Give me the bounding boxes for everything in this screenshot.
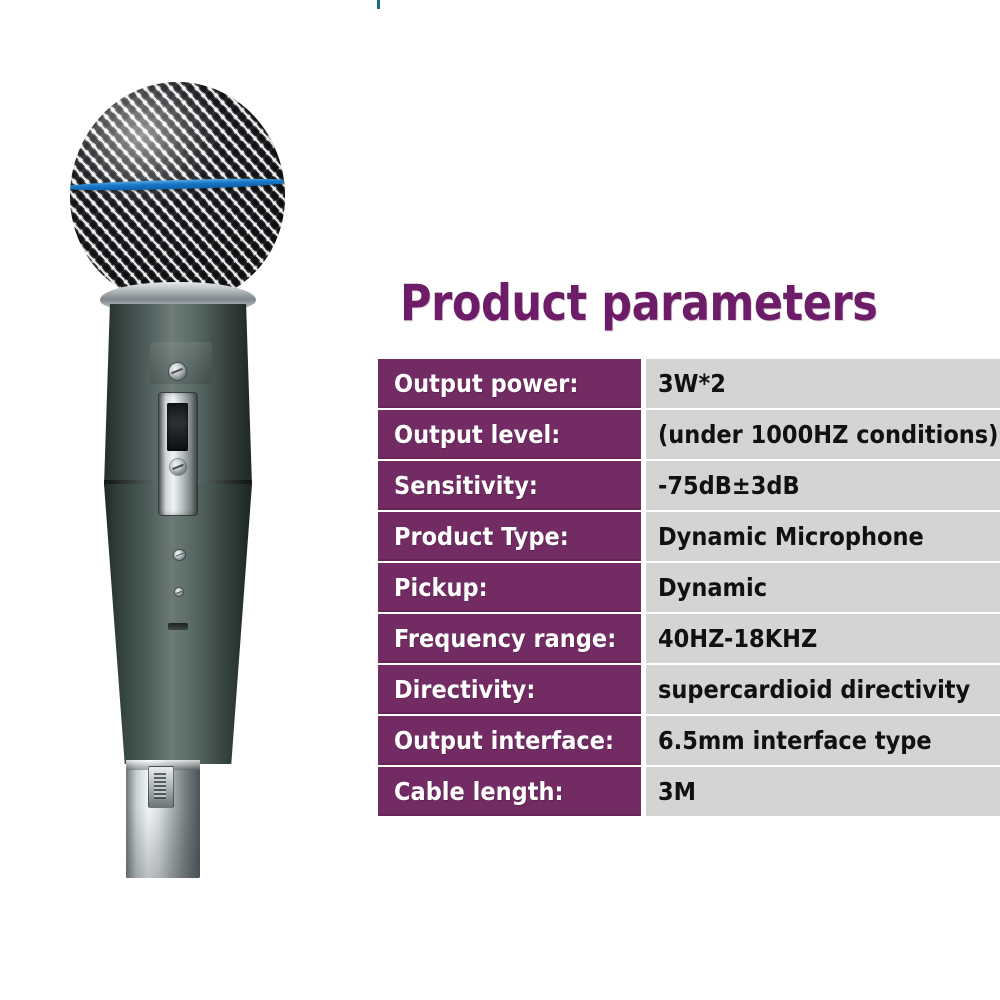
spec-value-cell: supercardioid directivity [641, 665, 1000, 714]
spec-label-text: Cable length: [394, 778, 563, 806]
spec-label-text: Output interface: [394, 727, 614, 755]
spec-label-cell: Output interface: [378, 716, 641, 765]
spec-value-cell: 3M [641, 767, 1000, 816]
table-row: Output level: (under 1000HZ conditions) [378, 410, 1000, 459]
microphone-screw-lower-1 [174, 550, 185, 560]
spec-value-text: -75dB±3dB [658, 472, 800, 500]
table-row: Output power: 3W*2 [378, 359, 1000, 408]
table-row: Pickup: Dynamic [378, 563, 1000, 612]
spec-table-body: Output power: 3W*2 Output level: (under … [378, 359, 1000, 816]
spec-label-cell: Cable length: [378, 767, 641, 816]
microphone-screw-lower-2 [175, 588, 183, 596]
connector-shading [126, 806, 200, 878]
product-parameters-panel: Product parameters Output power: 3W*2 Ou… [378, 275, 962, 818]
spec-label-text: Pickup: [394, 574, 488, 602]
grille-shading [70, 82, 285, 302]
spec-label-text: Directivity: [394, 676, 535, 704]
spec-label-cell: Frequency range: [378, 614, 641, 663]
spec-label-text: Output power: [394, 370, 578, 398]
spec-value-text: (under 1000HZ conditions) [658, 421, 998, 449]
table-row: Output interface: 6.5mm interface type [378, 716, 1000, 765]
table-row: Cable length: 3M [378, 767, 1000, 816]
spec-value-cell: -75dB±3dB [641, 461, 1000, 510]
table-row: Frequency range: 40HZ-18KHZ [378, 614, 1000, 663]
connector-pin [148, 766, 174, 808]
spec-label-text: Product Type: [394, 523, 569, 551]
spec-table: Output power: 3W*2 Output level: (under … [378, 357, 1000, 818]
table-row: Product Type: Dynamic Microphone [378, 512, 1000, 561]
top-edge-artifact [377, 0, 380, 9]
product-spec-page: Product parameters Output power: 3W*2 Ou… [0, 0, 1000, 1000]
spec-label-cell: Output power: [378, 359, 641, 408]
microphone-vent-slot [168, 623, 188, 630]
spec-value-text: 40HZ-18KHZ [658, 625, 817, 653]
spec-label-text: Output level: [394, 421, 560, 449]
spec-label-cell: Pickup: [378, 563, 641, 612]
spec-value-text: 3W*2 [658, 370, 726, 398]
spec-value-text: supercardioid directivity [658, 676, 970, 704]
spec-value-cell: Dynamic [641, 563, 1000, 612]
table-row: Directivity: supercardioid directivity [378, 665, 1000, 714]
spec-value-text: Dynamic Microphone [658, 523, 924, 551]
spec-label-cell: Output level: [378, 410, 641, 459]
spec-label-text: Frequency range: [394, 625, 616, 653]
page-title: Product parameters [400, 275, 883, 331]
spec-value-cell: 6.5mm interface type [641, 716, 1000, 765]
spec-value-text: 3M [658, 778, 696, 806]
spec-label-cell: Directivity: [378, 665, 641, 714]
spec-value-cell: Dynamic Microphone [641, 512, 1000, 561]
microphone-product-image [40, 60, 340, 890]
spec-value-cell: 3W*2 [641, 359, 1000, 408]
microphone-screw-plate [170, 459, 186, 475]
microphone-grille-icon [70, 82, 285, 302]
spec-label-cell: Product Type: [378, 512, 641, 561]
spec-label-cell: Sensitivity: [378, 461, 641, 510]
spec-value-cell: (under 1000HZ conditions) [641, 410, 1000, 459]
table-row: Sensitivity: -75dB±3dB [378, 461, 1000, 510]
microphone-power-switch [167, 403, 188, 451]
spec-value-text: 6.5mm interface type [658, 727, 932, 755]
spec-label-text: Sensitivity: [394, 472, 538, 500]
microphone-screw-upper [169, 363, 186, 380]
spec-value-cell: 40HZ-18KHZ [641, 614, 1000, 663]
spec-value-text: Dynamic [658, 574, 767, 602]
